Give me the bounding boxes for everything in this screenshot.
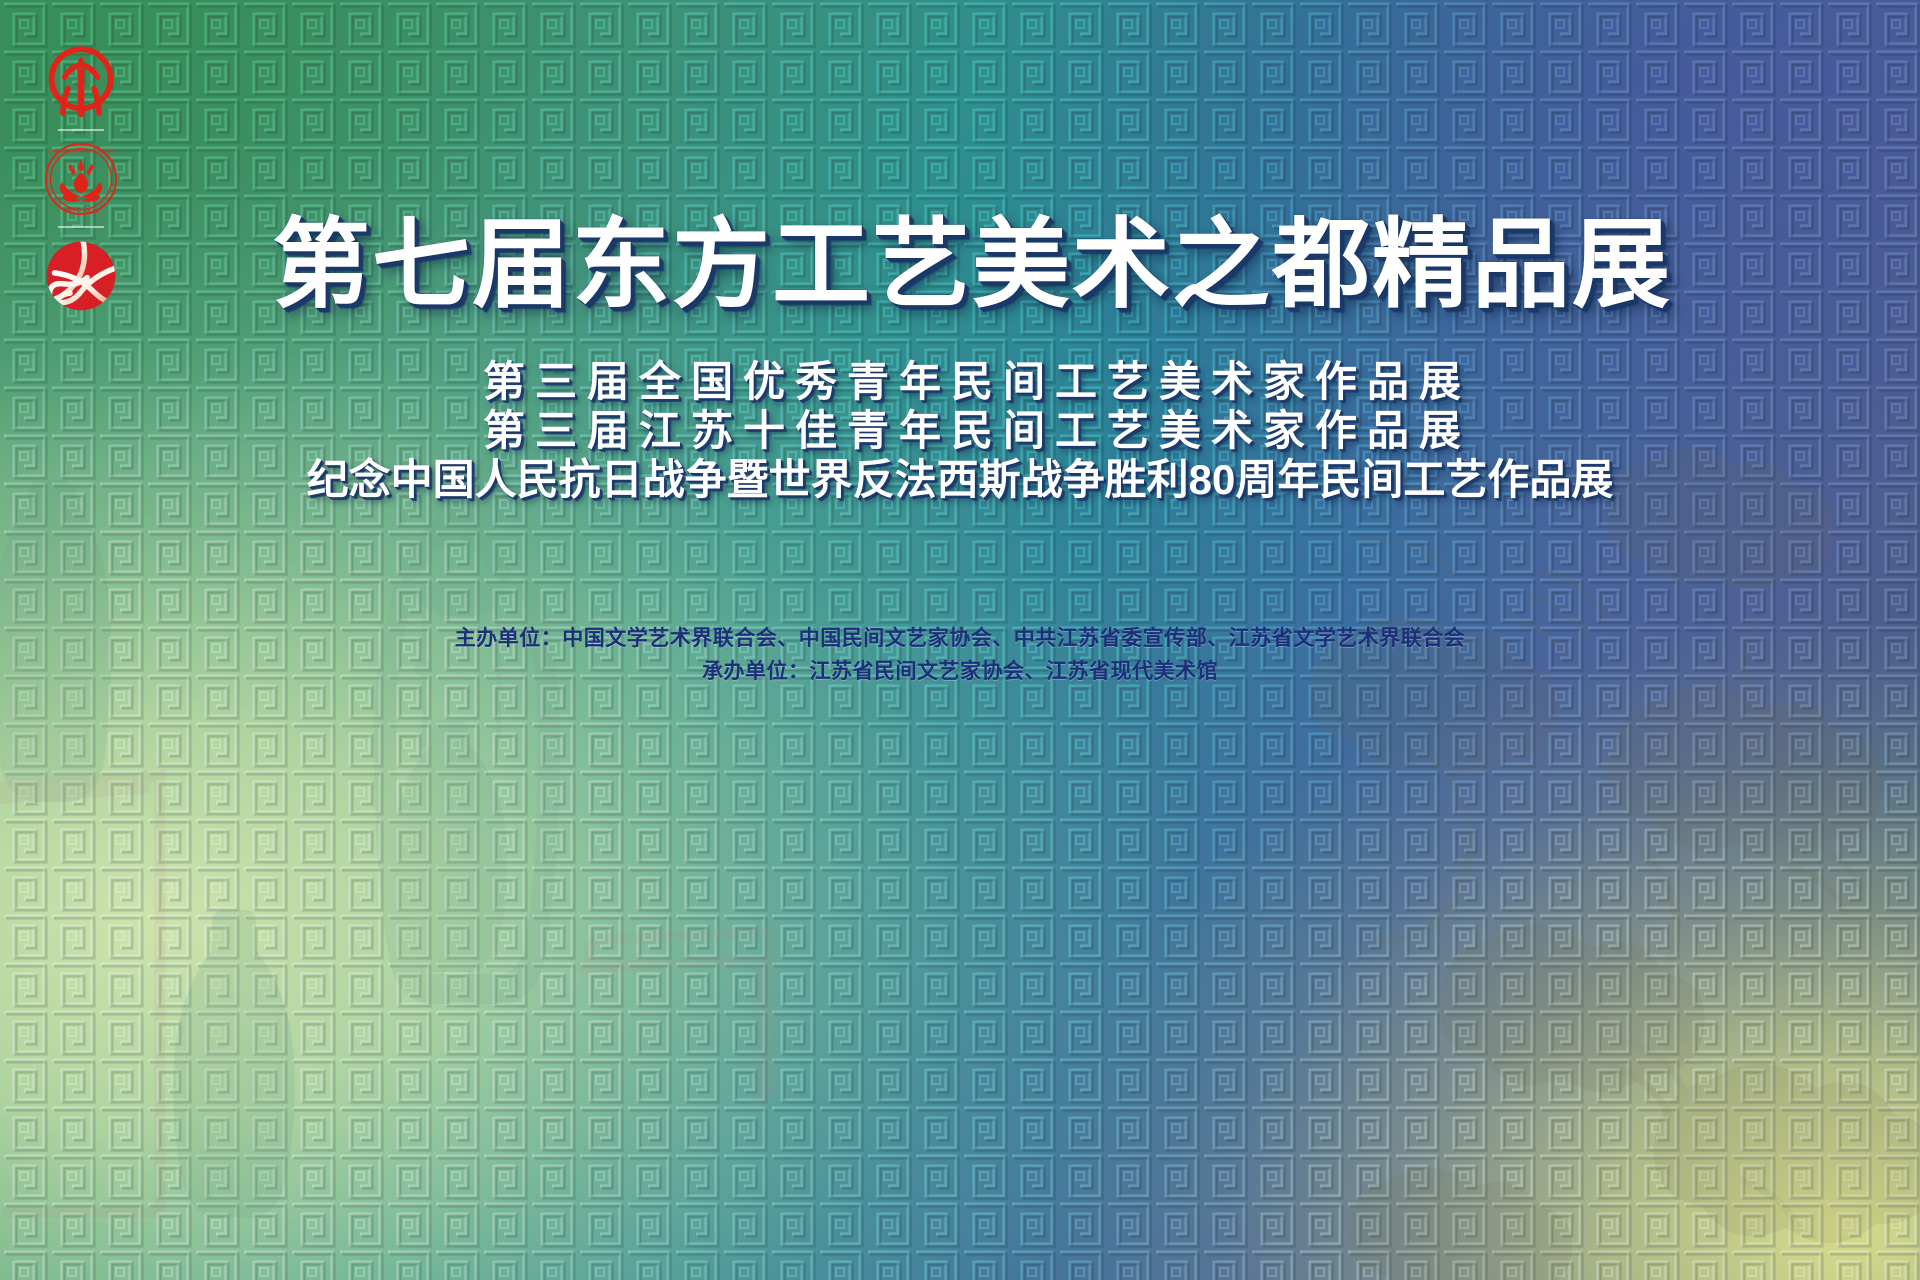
right-cloud-peony-silhouettes	[1240, 420, 1920, 1280]
china-federation-literary-art-circles-logo	[37, 38, 125, 126]
logo-divider-1	[58, 129, 104, 131]
organizer-logo-stack: CHINA FOLK LITERATURE AND ART 中国民间文艺家协会	[26, 38, 136, 320]
china-folk-literature-art-association-seal-logo: CHINA FOLK LITERATURE AND ART 中国民间文艺家协会	[37, 135, 125, 223]
page-title: 第七届东方工艺美术之都精品展	[0, 212, 1920, 318]
svg-text:CHINA FOLK LITERATURE AND ART: CHINA FOLK LITERATURE AND ART	[47, 148, 116, 153]
svg-text:中国民间文艺家协会: 中国民间文艺家协会	[63, 207, 99, 213]
organizer-block: 主办单位：中国文学艺术界联合会、中国民间文艺家协会、中共江苏省委宣传部、江苏省文…	[0, 622, 1920, 688]
exhibition-poster: CHINA FOLK LITERATURE AND ART 中国民间文艺家协会	[0, 0, 1920, 1280]
jiangsu-federation-ribbon-logo	[37, 232, 125, 320]
organizer-line-undertaker: 承办单位：江苏省民间文艺家协会、江苏省现代美术馆	[0, 655, 1920, 688]
left-artifact-silhouettes	[0, 470, 790, 1280]
subtitle-line-3: 纪念中国人民抗日战争暨世界反法西斯战争胜利80周年民间工艺作品展	[0, 446, 1920, 507]
organizer-line-host: 主办单位：中国文学艺术界联合会、中国民间文艺家协会、中共江苏省委宣传部、江苏省文…	[0, 622, 1920, 655]
logo-divider-2	[58, 226, 104, 228]
